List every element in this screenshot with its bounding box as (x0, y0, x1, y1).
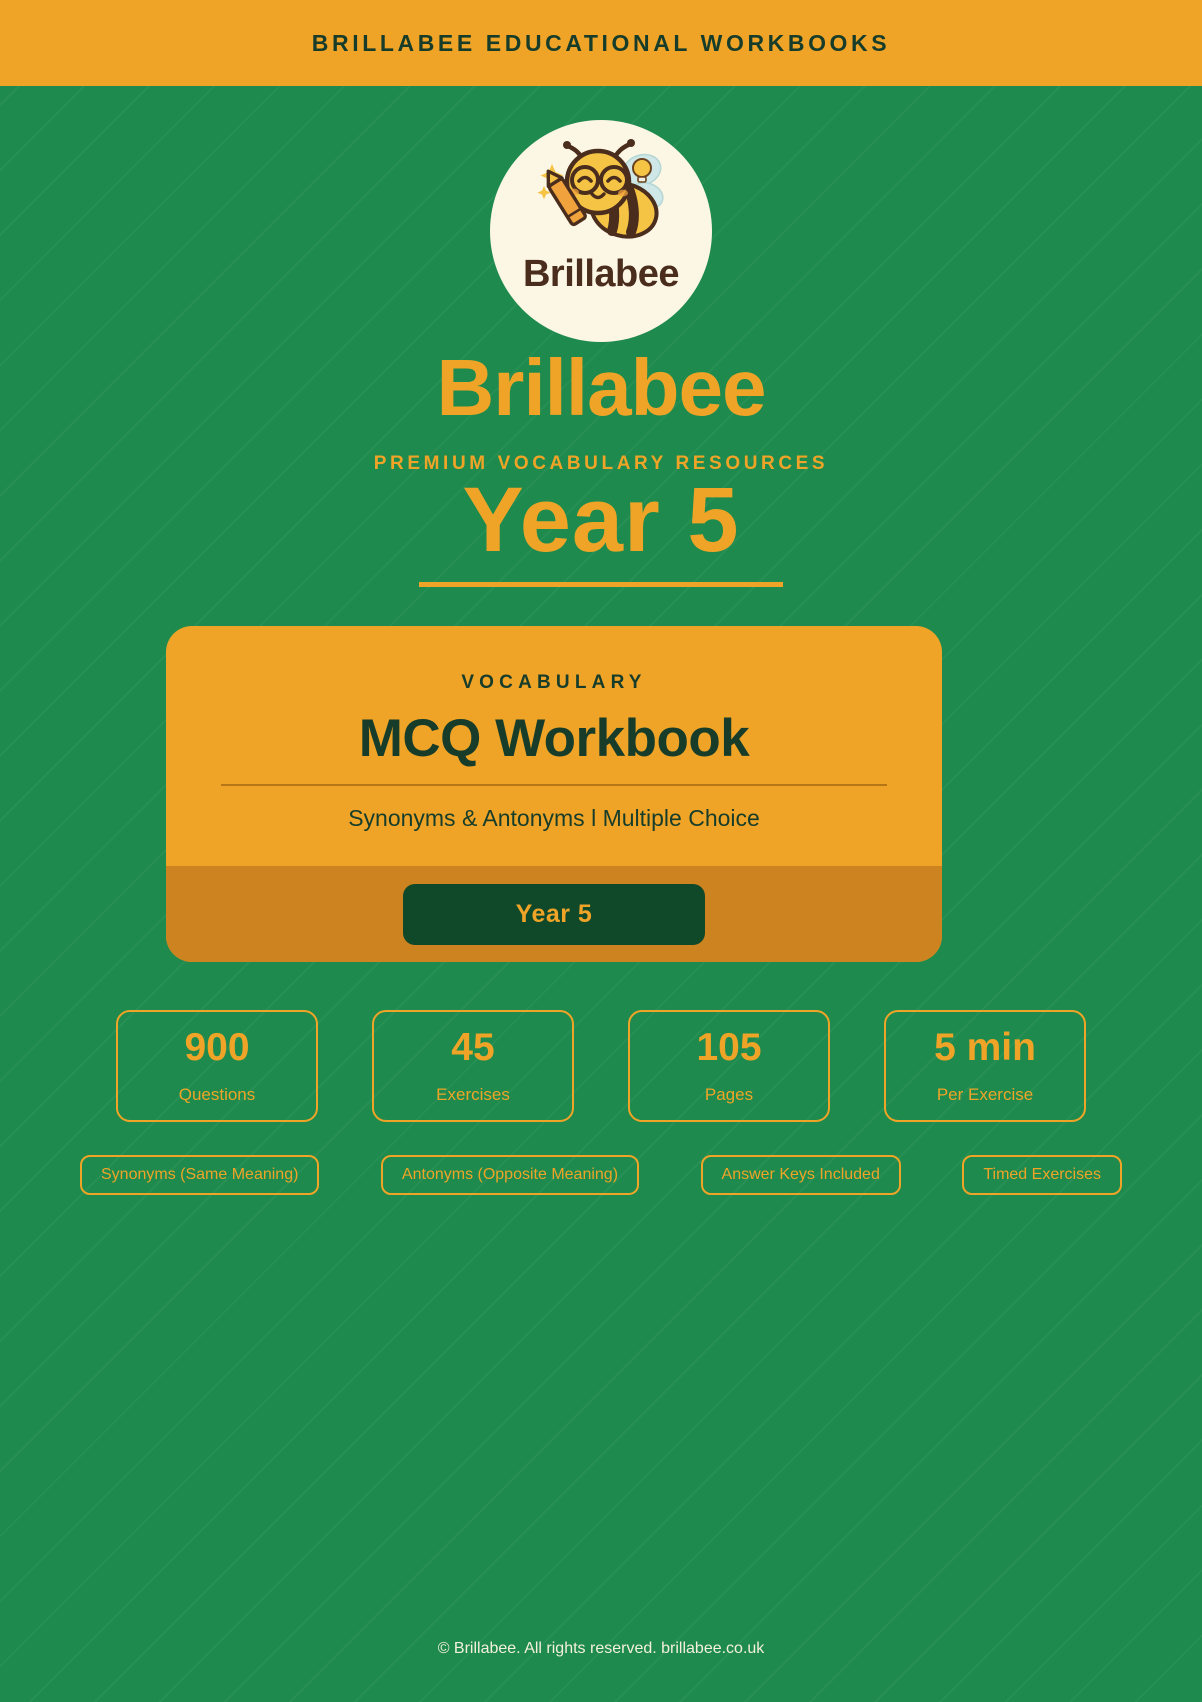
year-headline: Year 5 (0, 474, 1202, 566)
top-banner: BRILLABEE EDUCATIONAL WORKBOOKS (0, 0, 1202, 86)
stat-value: 900 (184, 1028, 249, 1067)
stat-label: Exercises (436, 1085, 510, 1105)
card-kicker-label: VOCABULARY (461, 672, 646, 694)
stat-box: 900 Questions (116, 1010, 318, 1122)
stats-row: 900 Questions 45 Exercises 105 Pages 5 m… (116, 1010, 1086, 1122)
stat-box: 105 Pages (628, 1010, 830, 1122)
card-title: MCQ Workbook (359, 710, 750, 767)
stat-label: Per Exercise (937, 1085, 1033, 1105)
feature-pills-row: Synonyms (Same Meaning) Antonyms (Opposi… (80, 1155, 1122, 1195)
stat-label: Questions (179, 1085, 256, 1105)
stat-box: 45 Exercises (372, 1010, 574, 1122)
footer-copyright: © Brillabee. All rights reserved. brilla… (0, 1640, 1202, 1658)
feature-pill: Timed Exercises (962, 1155, 1122, 1195)
year-badge: Year 5 (403, 884, 705, 945)
feature-pill: Antonyms (Opposite Meaning) (381, 1155, 639, 1195)
workbook-card-bottom: Year 5 (166, 866, 942, 962)
stat-value: 45 (451, 1028, 494, 1067)
workbook-card: VOCABULARY MCQ Workbook Synonyms & Anton… (166, 626, 942, 962)
stat-box: 5 min Per Exercise (884, 1010, 1086, 1122)
card-divider (221, 784, 887, 786)
card-subtitle: Synonyms & Antonyms l Multiple Choice (348, 805, 760, 832)
logo-wordmark: Brillabee (523, 255, 679, 293)
top-banner-label: BRILLABEE EDUCATIONAL WORKBOOKS (312, 30, 890, 57)
feature-pill: Synonyms (Same Meaning) (80, 1155, 319, 1195)
stat-label: Pages (705, 1085, 753, 1105)
brand-title: Brillabee (0, 348, 1202, 428)
bee-with-pencil-icon (526, 134, 676, 259)
workbook-card-top: VOCABULARY MCQ Workbook Synonyms & Anton… (166, 626, 942, 866)
stat-value: 105 (696, 1028, 761, 1067)
workbook-cover: BRILLABEE EDUCATIONAL WORKBOOKS (0, 0, 1202, 1702)
feature-pill: Answer Keys Included (701, 1155, 901, 1195)
stat-value: 5 min (934, 1028, 1036, 1067)
brand-logo-badge: Brillabee (490, 120, 712, 342)
year-underline (419, 582, 783, 587)
